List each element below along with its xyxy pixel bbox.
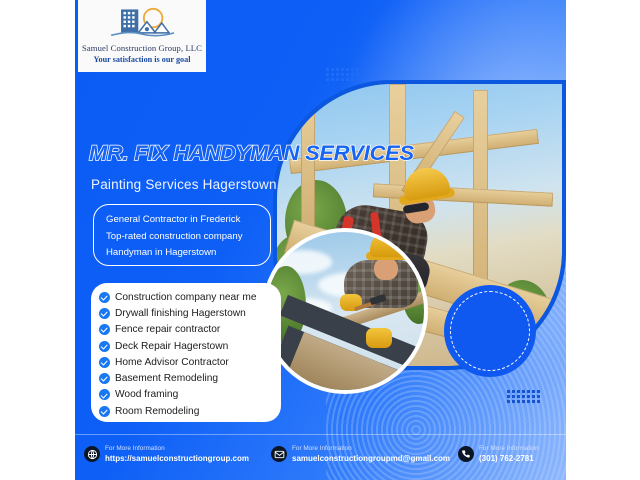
service-tag-box: General Contractor in Frederick Top-rate…	[93, 204, 271, 266]
contact-phone[interactable]: For More Information (301) 762-2781	[458, 446, 539, 463]
footer-contact-bar: For More Information https://samuelconst…	[75, 443, 566, 480]
check-circle-icon	[99, 373, 110, 384]
check-circle-icon	[99, 292, 110, 303]
list-item: Drywall finishing Hagerstown	[99, 305, 273, 321]
list-item: Fence repair contractor	[99, 322, 273, 338]
secondary-photo-circle	[262, 228, 428, 394]
footer-divider	[75, 434, 566, 435]
brand-tagline: Your satisfaction is our goal	[93, 55, 190, 64]
check-circle-icon	[99, 406, 110, 417]
poster-canvas: Samuel Construction Group, LLC Your sati…	[0, 0, 640, 480]
list-item-label: Fence repair contractor	[115, 324, 220, 335]
phone-icon	[458, 446, 474, 462]
check-circle-icon	[99, 357, 110, 368]
contact-value: samuelconstructiongroupmd@gmail.com	[292, 455, 450, 463]
check-circle-icon	[99, 389, 110, 400]
list-item: Basement Remodeling	[99, 370, 273, 386]
page-title: MR. FIX HANDYMAN SERVICES	[89, 142, 414, 166]
service-tag-line: Handyman in Hagerstown	[106, 245, 258, 262]
list-item: Deck Repair Hagerstown	[99, 338, 273, 354]
list-item-label: Basement Remodeling	[115, 373, 218, 384]
list-item-label: Drywall finishing Hagerstown	[115, 308, 246, 319]
list-item-label: Deck Repair Hagerstown	[115, 341, 228, 352]
contact-label: For More Information	[479, 446, 539, 452]
list-item: Construction company near me	[99, 289, 273, 305]
list-item: Home Advisor Contractor	[99, 354, 273, 370]
secondary-photo-image	[266, 232, 424, 390]
envelope-icon	[271, 446, 287, 462]
brand-name: Samuel Construction Group, LLC	[82, 43, 202, 53]
contact-label: For More Information	[292, 446, 450, 452]
list-item-label: Room Remodeling	[115, 406, 199, 417]
building-sun-house-icon	[105, 4, 179, 42]
list-item-label: Home Advisor Contractor	[115, 357, 229, 368]
globe-icon	[84, 446, 100, 462]
dot-grid-bottom-icon	[507, 390, 540, 403]
contact-value: https://samuelconstructiongroup.com	[105, 455, 249, 463]
page-subtitle: Painting Services Hagerstown	[91, 177, 277, 192]
service-tag-line: Top-rated construction company	[106, 229, 258, 246]
contact-website[interactable]: For More Information https://samuelconst…	[84, 446, 249, 463]
list-item-label: Wood framing	[115, 389, 178, 400]
services-checklist: Construction company near me Drywall fin…	[91, 283, 281, 422]
check-circle-icon	[99, 308, 110, 319]
service-tag-line: General Contractor in Frederick	[106, 212, 258, 229]
contact-label: For More Information	[105, 446, 249, 452]
contact-email[interactable]: For More Information samuelconstructiong…	[271, 446, 450, 463]
check-circle-icon	[99, 341, 110, 352]
dashed-circle-icon	[444, 285, 536, 377]
list-item-label: Construction company near me	[115, 292, 257, 303]
contact-value: (301) 762-2781	[479, 455, 539, 463]
promo-card: Samuel Construction Group, LLC Your sati…	[75, 0, 566, 480]
check-circle-icon	[99, 324, 110, 335]
list-item: Wood framing	[99, 387, 273, 403]
list-item: Room Remodeling	[99, 403, 273, 419]
brand-logo-box: Samuel Construction Group, LLC Your sati…	[78, 0, 206, 72]
dot-grid-top-icon	[326, 68, 364, 81]
